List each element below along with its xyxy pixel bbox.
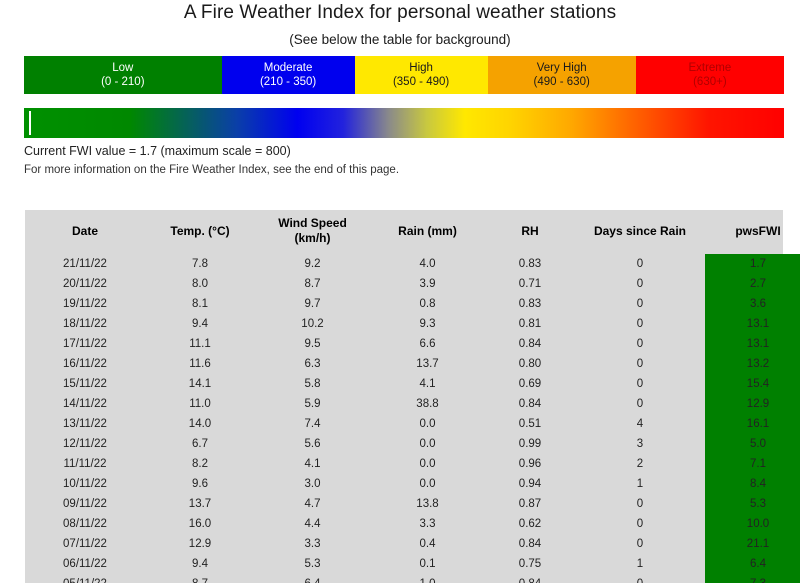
page-subtitle: (See below the table for background)	[0, 32, 800, 47]
cell-wind: 10.2	[255, 314, 370, 334]
cell-wind: 6.3	[255, 354, 370, 374]
cell-pwsfwi: 5.0	[705, 434, 800, 454]
cell-days: 2	[575, 454, 705, 474]
cell-wind: 7.4	[255, 414, 370, 434]
table-header: Date Temp. (°C) Wind Speed (km/h) Rain (…	[25, 210, 800, 254]
cell-date: 15/11/22	[25, 374, 145, 394]
column-header-temp: Temp. (°C)	[145, 210, 255, 254]
cell-days: 0	[575, 534, 705, 554]
column-header-pwsfwi: pwsFWI	[705, 210, 800, 254]
table-row: 13/11/2214.07.40.00.51416.1	[25, 414, 800, 434]
cell-rh: 0.99	[485, 434, 575, 454]
cell-rh: 0.84	[485, 574, 575, 583]
cell-wind: 4.4	[255, 514, 370, 534]
cell-pwsfwi: 21.1	[705, 534, 800, 554]
cell-wind: 5.3	[255, 554, 370, 574]
fwi-table-container: Date Temp. (°C) Wind Speed (km/h) Rain (…	[25, 210, 783, 583]
cell-wind: 5.6	[255, 434, 370, 454]
cell-days: 3	[575, 434, 705, 454]
cell-rain: 0.4	[370, 534, 485, 554]
cell-rh: 0.87	[485, 494, 575, 514]
cell-pwsfwi: 10.0	[705, 514, 800, 534]
cell-days: 0	[575, 514, 705, 534]
cell-days: 0	[575, 374, 705, 394]
gradient-bar	[24, 108, 784, 138]
cell-wind: 9.2	[255, 254, 370, 274]
cell-temp: 11.0	[145, 394, 255, 414]
cell-rh: 0.84	[485, 534, 575, 554]
column-header-wind-speed-line2: (km/h)	[295, 231, 331, 245]
cell-temp: 8.7	[145, 574, 255, 583]
table-row: 14/11/2211.05.938.80.84012.9	[25, 394, 800, 414]
legend-category-name: Moderate	[264, 61, 313, 75]
cell-date: 09/11/22	[25, 494, 145, 514]
cell-rain: 9.3	[370, 314, 485, 334]
cell-temp: 14.1	[145, 374, 255, 394]
cell-rh: 0.75	[485, 554, 575, 574]
cell-days: 0	[575, 394, 705, 414]
column-header-wind-speed-line1: Wind Speed	[278, 216, 347, 230]
column-header-rain: Rain (mm)	[370, 210, 485, 254]
cell-temp: 12.9	[145, 534, 255, 554]
cell-pwsfwi: 6.4	[705, 554, 800, 574]
cell-rh: 0.83	[485, 294, 575, 314]
more-information-text: For more information on the Fire Weather…	[24, 164, 399, 176]
cell-rh: 0.84	[485, 394, 575, 414]
cell-date: 19/11/22	[25, 294, 145, 314]
table-row: 11/11/228.24.10.00.9627.1	[25, 454, 800, 474]
cell-wind: 9.5	[255, 334, 370, 354]
cell-rain: 6.6	[370, 334, 485, 354]
cell-wind: 3.0	[255, 474, 370, 494]
cell-wind: 8.7	[255, 274, 370, 294]
current-fwi-value-text: Current FWI value = 1.7 (maximum scale =…	[24, 144, 291, 158]
legend-category-range: (210 - 350)	[260, 75, 316, 89]
cell-days: 1	[575, 474, 705, 494]
cell-temp: 14.0	[145, 414, 255, 434]
table-row: 09/11/2213.74.713.80.8705.3	[25, 494, 800, 514]
cell-date: 14/11/22	[25, 394, 145, 414]
table-row: 18/11/229.410.29.30.81013.1	[25, 314, 800, 334]
column-header-rh: RH	[485, 210, 575, 254]
legend-category-name: Very High	[537, 61, 587, 75]
cell-pwsfwi: 3.6	[705, 294, 800, 314]
legend-category-name: Low	[112, 61, 133, 75]
fwi-category-legend: Low(0 - 210)Moderate(210 - 350)High(350 …	[24, 56, 784, 94]
legend-category-moderate: Moderate(210 - 350)	[222, 56, 355, 94]
table-row: 15/11/2214.15.84.10.69015.4	[25, 374, 800, 394]
cell-days: 0	[575, 574, 705, 583]
table-row: 21/11/227.89.24.00.8301.7	[25, 254, 800, 274]
cell-date: 17/11/22	[25, 334, 145, 354]
cell-rain: 3.9	[370, 274, 485, 294]
legend-category-name: High	[409, 61, 433, 75]
table-row: 17/11/2211.19.56.60.84013.1	[25, 334, 800, 354]
cell-wind: 4.1	[255, 454, 370, 474]
cell-days: 0	[575, 314, 705, 334]
cell-rain: 38.8	[370, 394, 485, 414]
cell-pwsfwi: 7.3	[705, 574, 800, 583]
cell-date: 21/11/22	[25, 254, 145, 274]
page-root: A Fire Weather Index for personal weathe…	[0, 0, 800, 583]
cell-temp: 13.7	[145, 494, 255, 514]
cell-rain: 0.0	[370, 474, 485, 494]
cell-days: 4	[575, 414, 705, 434]
page-title: A Fire Weather Index for personal weathe…	[0, 2, 800, 24]
table-body: 21/11/227.89.24.00.8301.720/11/228.08.73…	[25, 254, 800, 583]
cell-wind: 5.8	[255, 374, 370, 394]
cell-date: 06/11/22	[25, 554, 145, 574]
legend-category-range: (490 - 630)	[534, 75, 590, 89]
legend-category-low: Low(0 - 210)	[24, 56, 222, 94]
cell-temp: 8.1	[145, 294, 255, 314]
cell-date: 16/11/22	[25, 354, 145, 374]
cell-days: 0	[575, 334, 705, 354]
cell-temp: 9.6	[145, 474, 255, 494]
cell-pwsfwi: 12.9	[705, 394, 800, 414]
cell-temp: 8.0	[145, 274, 255, 294]
table-row: 06/11/229.45.30.10.7516.4	[25, 554, 800, 574]
cell-rain: 3.3	[370, 514, 485, 534]
column-header-date: Date	[25, 210, 145, 254]
cell-days: 0	[575, 274, 705, 294]
cell-rh: 0.51	[485, 414, 575, 434]
cell-rh: 0.80	[485, 354, 575, 374]
cell-wind: 3.3	[255, 534, 370, 554]
fwi-table: Date Temp. (°C) Wind Speed (km/h) Rain (…	[25, 210, 800, 583]
cell-temp: 11.6	[145, 354, 255, 374]
cell-temp: 6.7	[145, 434, 255, 454]
cell-wind: 6.4	[255, 574, 370, 583]
cell-rain: 0.0	[370, 454, 485, 474]
cell-rain: 0.1	[370, 554, 485, 574]
cell-days: 1	[575, 554, 705, 574]
cell-rain: 13.8	[370, 494, 485, 514]
table-row: 20/11/228.08.73.90.7102.7	[25, 274, 800, 294]
cell-date: 07/11/22	[25, 534, 145, 554]
table-row: 16/11/2211.66.313.70.80013.2	[25, 354, 800, 374]
legend-category-extreme: Extreme(630+)	[636, 56, 784, 94]
cell-wind: 4.7	[255, 494, 370, 514]
table-row: 19/11/228.19.70.80.8303.6	[25, 294, 800, 314]
cell-date: 12/11/22	[25, 434, 145, 454]
table-header-row: Date Temp. (°C) Wind Speed (km/h) Rain (…	[25, 210, 800, 254]
cell-pwsfwi: 16.1	[705, 414, 800, 434]
cell-rh: 0.69	[485, 374, 575, 394]
cell-pwsfwi: 1.7	[705, 254, 800, 274]
cell-pwsfwi: 13.1	[705, 314, 800, 334]
cell-rain: 0.0	[370, 414, 485, 434]
table-row: 10/11/229.63.00.00.9418.4	[25, 474, 800, 494]
cell-date: 20/11/22	[25, 274, 145, 294]
legend-category-range: (0 - 210)	[101, 75, 144, 89]
legend-category-range: (630+)	[693, 75, 727, 89]
cell-pwsfwi: 7.1	[705, 454, 800, 474]
cell-temp: 9.4	[145, 554, 255, 574]
column-header-wind-speed: Wind Speed (km/h)	[255, 210, 370, 254]
table-row: 07/11/2212.93.30.40.84021.1	[25, 534, 800, 554]
cell-temp: 8.2	[145, 454, 255, 474]
cell-temp: 7.8	[145, 254, 255, 274]
cell-pwsfwi: 13.2	[705, 354, 800, 374]
cell-rh: 0.81	[485, 314, 575, 334]
cell-days: 0	[575, 294, 705, 314]
cell-pwsfwi: 2.7	[705, 274, 800, 294]
legend-category-range: (350 - 490)	[393, 75, 449, 89]
cell-pwsfwi: 13.1	[705, 334, 800, 354]
cell-temp: 16.0	[145, 514, 255, 534]
cell-rh: 0.71	[485, 274, 575, 294]
cell-wind: 5.9	[255, 394, 370, 414]
cell-date: 18/11/22	[25, 314, 145, 334]
cell-date: 08/11/22	[25, 514, 145, 534]
cell-temp: 11.1	[145, 334, 255, 354]
current-value-marker	[29, 111, 31, 135]
cell-date: 13/11/22	[25, 414, 145, 434]
cell-days: 0	[575, 494, 705, 514]
cell-rain: 4.1	[370, 374, 485, 394]
cell-temp: 9.4	[145, 314, 255, 334]
cell-rh: 0.83	[485, 254, 575, 274]
cell-date: 05/11/22	[25, 574, 145, 583]
table-row: 05/11/228.76.41.00.8407.3	[25, 574, 800, 583]
legend-category-name: Extreme	[688, 61, 731, 75]
cell-rain: 4.0	[370, 254, 485, 274]
cell-pwsfwi: 15.4	[705, 374, 800, 394]
cell-rh: 0.84	[485, 334, 575, 354]
cell-wind: 9.7	[255, 294, 370, 314]
cell-rain: 0.8	[370, 294, 485, 314]
table-row: 08/11/2216.04.43.30.62010.0	[25, 514, 800, 534]
cell-pwsfwi: 8.4	[705, 474, 800, 494]
cell-date: 10/11/22	[25, 474, 145, 494]
cell-date: 11/11/22	[25, 454, 145, 474]
cell-rain: 13.7	[370, 354, 485, 374]
fwi-gradient-scale	[24, 108, 784, 138]
column-header-days-since-rain: Days since Rain	[575, 210, 705, 254]
legend-category-very-high: Very High(490 - 630)	[488, 56, 636, 94]
cell-rh: 0.62	[485, 514, 575, 534]
cell-rain: 1.0	[370, 574, 485, 583]
cell-rh: 0.94	[485, 474, 575, 494]
table-row: 12/11/226.75.60.00.9935.0	[25, 434, 800, 454]
cell-rh: 0.96	[485, 454, 575, 474]
cell-days: 0	[575, 254, 705, 274]
cell-pwsfwi: 5.3	[705, 494, 800, 514]
cell-rain: 0.0	[370, 434, 485, 454]
cell-days: 0	[575, 354, 705, 374]
legend-category-high: High(350 - 490)	[355, 56, 488, 94]
